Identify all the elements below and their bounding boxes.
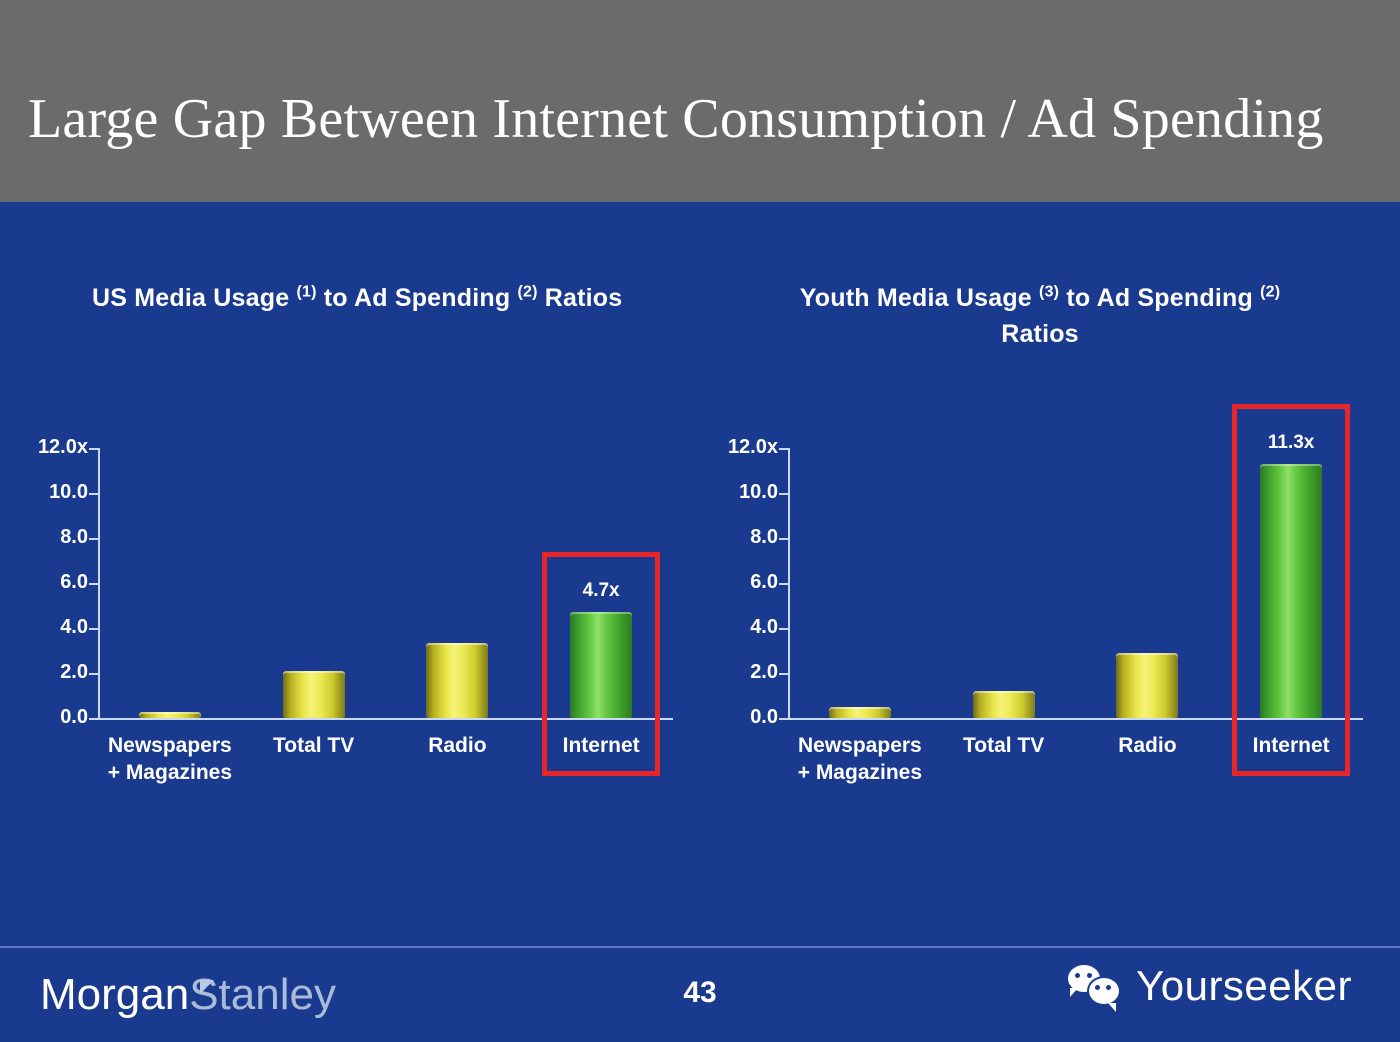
y-axis-tick (779, 448, 789, 450)
y-axis-tick-label: 4.0 (16, 616, 88, 639)
bar (1260, 464, 1322, 718)
y-axis-tick-label: 8.0 (706, 526, 778, 549)
plot-area-us-media-usage: 0.02.04.06.08.010.012.0xNewspapers+ Maga… (10, 280, 690, 800)
y-axis-tick (779, 628, 789, 630)
y-axis-tick (779, 583, 789, 585)
y-axis-tick-label: 6.0 (16, 571, 88, 594)
bar (426, 643, 488, 718)
y-axis-tick (89, 628, 99, 630)
y-axis-tick (779, 538, 789, 540)
bar-value-label: 11.3x (1268, 432, 1315, 454)
slide-header: Large Gap Between Internet Consumption /… (0, 0, 1400, 202)
y-axis-tick-label: 10.0 (706, 481, 778, 504)
bar (829, 707, 891, 718)
x-axis-category-label: Internet (1196, 732, 1386, 759)
bar (1116, 653, 1178, 718)
bar (570, 612, 632, 718)
bar-group (244, 418, 384, 718)
bar (283, 671, 345, 718)
y-axis-tick-label: 8.0 (16, 526, 88, 549)
y-axis-tick-label: 6.0 (706, 571, 778, 594)
x-axis-category-label: Internet (506, 732, 696, 759)
y-axis-tick-label: 4.0 (706, 616, 778, 639)
page-title: Large Gap Between Internet Consumption /… (28, 88, 1378, 150)
bar-group (790, 418, 930, 718)
y-axis-tick (89, 538, 99, 540)
bar (139, 712, 201, 718)
bar-group (934, 418, 1074, 718)
slide: Large Gap Between Internet Consumption /… (0, 0, 1400, 1042)
y-axis-tick-label: 2.0 (16, 661, 88, 684)
plot-area-youth-media-usage: 0.02.04.06.08.010.012.0xNewspapers+ Maga… (700, 280, 1380, 800)
y-axis-tick (779, 673, 789, 675)
y-axis-tick (779, 493, 789, 495)
bar-group (1221, 418, 1361, 718)
wechat-icon (1068, 965, 1124, 1007)
x-axis-line (788, 718, 1363, 720)
bar-value-label: 4.7x (583, 580, 620, 602)
slide-body: US Media Usage (1) to Ad Spending (2) Ra… (0, 202, 1400, 1042)
slide-footer: MorganStanley 43 Yourseeker (0, 948, 1400, 1042)
bar (973, 691, 1035, 718)
y-axis-tick (89, 583, 99, 585)
watermark-label: Yourseeker (1136, 962, 1352, 1010)
y-axis-tick (89, 718, 99, 720)
y-axis-tick (89, 448, 99, 450)
y-axis-tick-label: 12.0x (16, 436, 88, 459)
bar-group (387, 418, 527, 718)
y-axis-tick-label: 0.0 (706, 706, 778, 729)
bar-group (100, 418, 240, 718)
x-axis-line (98, 718, 673, 720)
chart-panel-youth-media-usage: Youth Media Usage (3) to Ad Spending (2)… (700, 280, 1380, 800)
y-axis-tick-label: 12.0x (706, 436, 778, 459)
y-axis-tick (89, 493, 99, 495)
y-axis-tick (779, 718, 789, 720)
y-axis-tick-label: 2.0 (706, 661, 778, 684)
chart-panel-us-media-usage: US Media Usage (1) to Ad Spending (2) Ra… (10, 280, 690, 800)
y-axis-tick (89, 673, 99, 675)
watermark: Yourseeker (1068, 962, 1352, 1010)
bar-group (531, 418, 671, 718)
bar-group (1077, 418, 1217, 718)
y-axis-tick-label: 0.0 (16, 706, 88, 729)
y-axis-tick-label: 10.0 (16, 481, 88, 504)
